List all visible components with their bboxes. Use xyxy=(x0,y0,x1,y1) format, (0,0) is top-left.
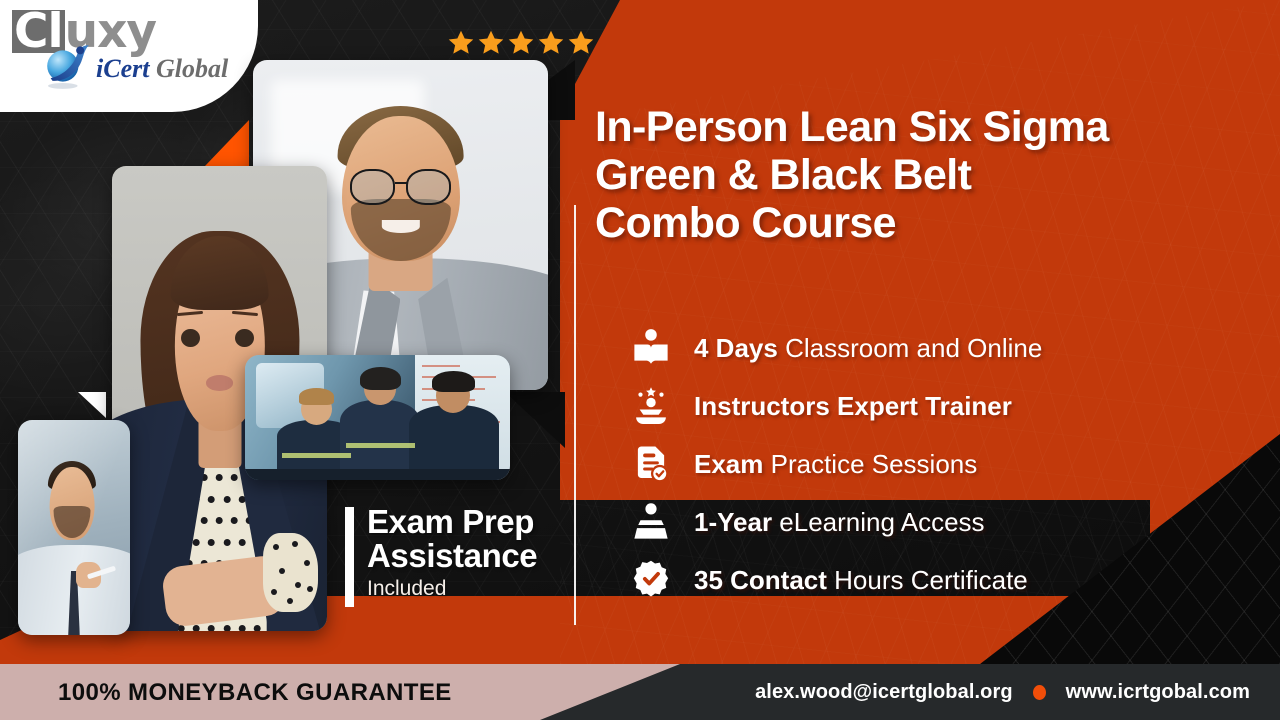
headline-line-2: Green & Black Belt xyxy=(595,151,1275,199)
course-feature-list: 4 Days Classroom and Online Instructors … xyxy=(630,326,1042,602)
feature-item: 35 Contact Hours Certificate xyxy=(630,558,1042,602)
feature-label-bold: 1-Year xyxy=(694,507,772,537)
feature-label-rest: eLearning Access xyxy=(772,507,984,537)
verified-badge-check-icon xyxy=(630,559,672,601)
feature-label-rest: Practice Sessions xyxy=(763,449,977,479)
moneyback-guarantee-text: 100% MONEYBACK GUARANTEE xyxy=(58,679,452,707)
contact-website[interactable]: www.icrtgobal.com xyxy=(1066,681,1250,704)
headline-line-3: Combo Course xyxy=(595,199,1275,247)
engineering-team-lab-discussion-photo xyxy=(245,355,510,480)
star-icon xyxy=(446,28,476,58)
exam-prep-title: Exam Prep Assistance xyxy=(367,505,537,572)
feature-label-bold: 35 Contact xyxy=(694,565,827,595)
feature-label: Instructors Expert Trainer xyxy=(694,393,1012,419)
contact-email[interactable]: alex.wood@icertglobal.org xyxy=(755,681,1013,704)
star-icon xyxy=(566,28,596,58)
feature-label-bold: 4 Days xyxy=(694,333,778,363)
feature-item: 1-Year eLearning Access xyxy=(630,500,1042,544)
exam-prep-title-line-1: Exam Prep xyxy=(367,505,537,539)
feature-label-bold: Exam xyxy=(694,449,763,479)
feature-item: Instructors Expert Trainer xyxy=(630,384,1042,428)
banner-canvas: Cluxy iCert Global In-Person Lean Six Si… xyxy=(0,0,1280,720)
star-icon xyxy=(506,28,536,58)
open-book-reader-icon xyxy=(630,327,672,369)
logo-icert-global-wordmark: iCert Global xyxy=(96,54,228,84)
contact-info: alex.wood@icertglobal.org www.icrtgobal.… xyxy=(755,664,1250,720)
speaker-podium-icon xyxy=(630,501,672,543)
feature-label: 35 Contact Hours Certificate xyxy=(694,567,1028,593)
exam-prep-callout: Exam Prep Assistance Included xyxy=(345,505,537,607)
feature-label: Exam Practice Sessions xyxy=(694,451,977,477)
feature-label: 4 Days Classroom and Online xyxy=(694,335,1042,361)
feature-item: 4 Days Classroom and Online xyxy=(630,326,1042,370)
exam-prep-subtitle: Included xyxy=(367,577,537,601)
globe-swoosh-icon xyxy=(42,40,94,92)
logo-global-text: Global xyxy=(156,54,228,83)
man-presenting-sticky-notes-photo xyxy=(18,420,130,635)
feature-label-rest: Classroom and Online xyxy=(778,333,1042,363)
feature-label-bold: Instructors Expert Trainer xyxy=(694,391,1012,421)
star-icon xyxy=(476,28,506,58)
vertical-divider xyxy=(574,205,576,625)
page-title: In-Person Lean Six Sigma Green & Black B… xyxy=(595,103,1275,247)
rating-stars xyxy=(446,28,596,58)
exam-prep-accent-bar xyxy=(345,507,354,607)
feature-label-rest: Hours Certificate xyxy=(827,565,1028,595)
exam-prep-title-line-2: Assistance xyxy=(367,539,537,573)
brand-logo[interactable]: Cluxy iCert Global xyxy=(0,0,258,112)
star-icon xyxy=(536,28,566,58)
feature-label: 1-Year eLearning Access xyxy=(694,509,985,535)
feature-item: Exam Practice Sessions xyxy=(630,442,1042,486)
expert-trainer-star-icon xyxy=(630,385,672,427)
dot-separator-icon xyxy=(1033,685,1046,700)
headline-line-1: In-Person Lean Six Sigma xyxy=(595,103,1275,151)
logo-icert-text: iCert xyxy=(96,54,149,83)
exam-document-check-icon xyxy=(630,443,672,485)
